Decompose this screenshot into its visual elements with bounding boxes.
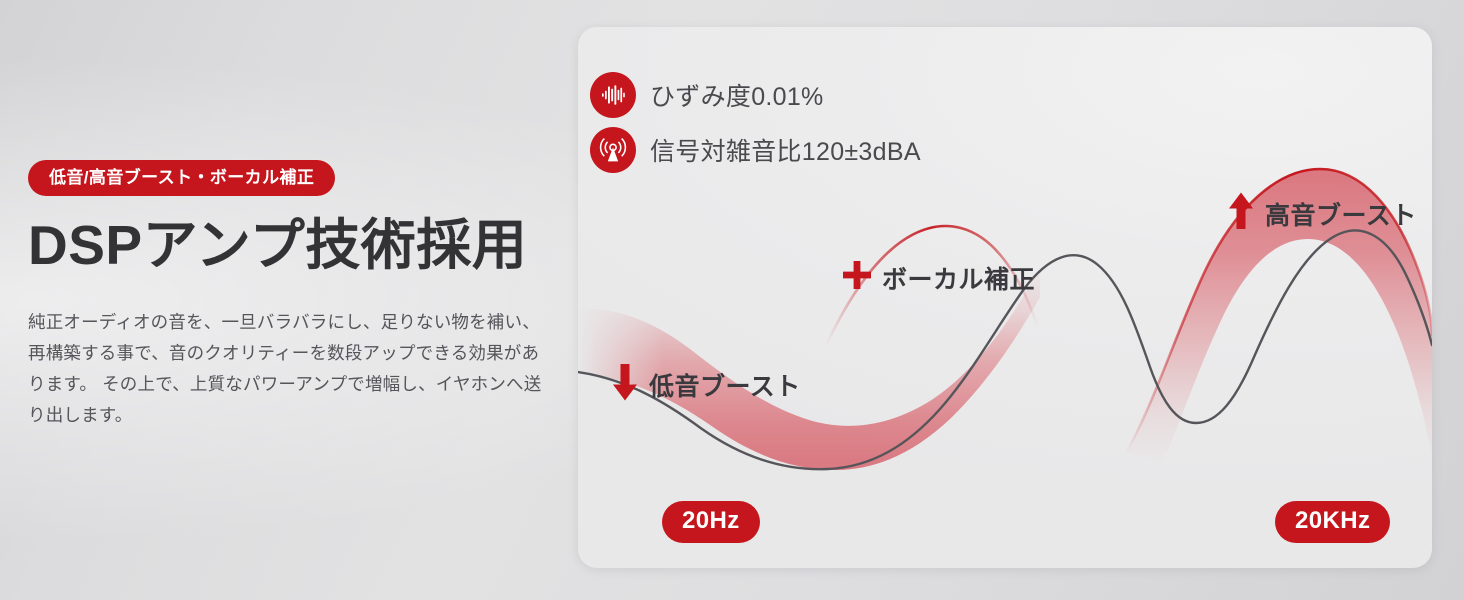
promo-banner: 低音/高音ブースト・ボーカル補正 DSPアンプ技術採用 純正オーディオの音を、一… bbox=[0, 0, 1464, 600]
broadcast-signal-icon bbox=[590, 127, 636, 173]
plus-icon bbox=[841, 259, 873, 296]
spec-row-snr: 信号対雑音比120±3dBA bbox=[590, 127, 921, 173]
body-copy: 純正オーディオの音を、一旦バラバラにし、足りない物を補い、再構築する事で、音のク… bbox=[28, 307, 552, 431]
spec-row-distortion: ひずみ度0.01% bbox=[590, 72, 824, 118]
freq-pill-high: 20KHz bbox=[1275, 501, 1390, 543]
left-text-column: 低音/高音ブースト・ボーカル補正 DSPアンプ技術採用 純正オーディオの音を、一… bbox=[28, 160, 548, 431]
callout-treble-boost: 高音ブースト bbox=[1226, 191, 1417, 236]
arrow-up-icon bbox=[1226, 191, 1256, 236]
page-title: DSPアンプ技術採用 bbox=[28, 216, 548, 275]
callout-label-bass: 低音ブースト bbox=[649, 367, 801, 403]
audio-waveform-icon bbox=[590, 72, 636, 118]
spec-label-snr: 信号対雑音比120±3dBA bbox=[650, 132, 921, 168]
callout-label-treble: 高音ブースト bbox=[1265, 196, 1417, 232]
eyebrow-badge: 低音/高音ブースト・ボーカル補正 bbox=[28, 160, 335, 196]
arrow-down-icon bbox=[610, 362, 640, 407]
callout-label-vocal: ボーカル補正 bbox=[882, 260, 1035, 296]
spec-label-distortion: ひずみ度0.01% bbox=[650, 77, 824, 113]
callout-bass-boost: 低音ブースト bbox=[610, 362, 801, 407]
freq-pill-low: 20Hz bbox=[662, 501, 760, 543]
callout-vocal-correction: ボーカル補正 bbox=[841, 259, 1035, 296]
eq-chart-card: ひずみ度0.01% 信号対雑音比120±3dBA bbox=[578, 27, 1432, 568]
